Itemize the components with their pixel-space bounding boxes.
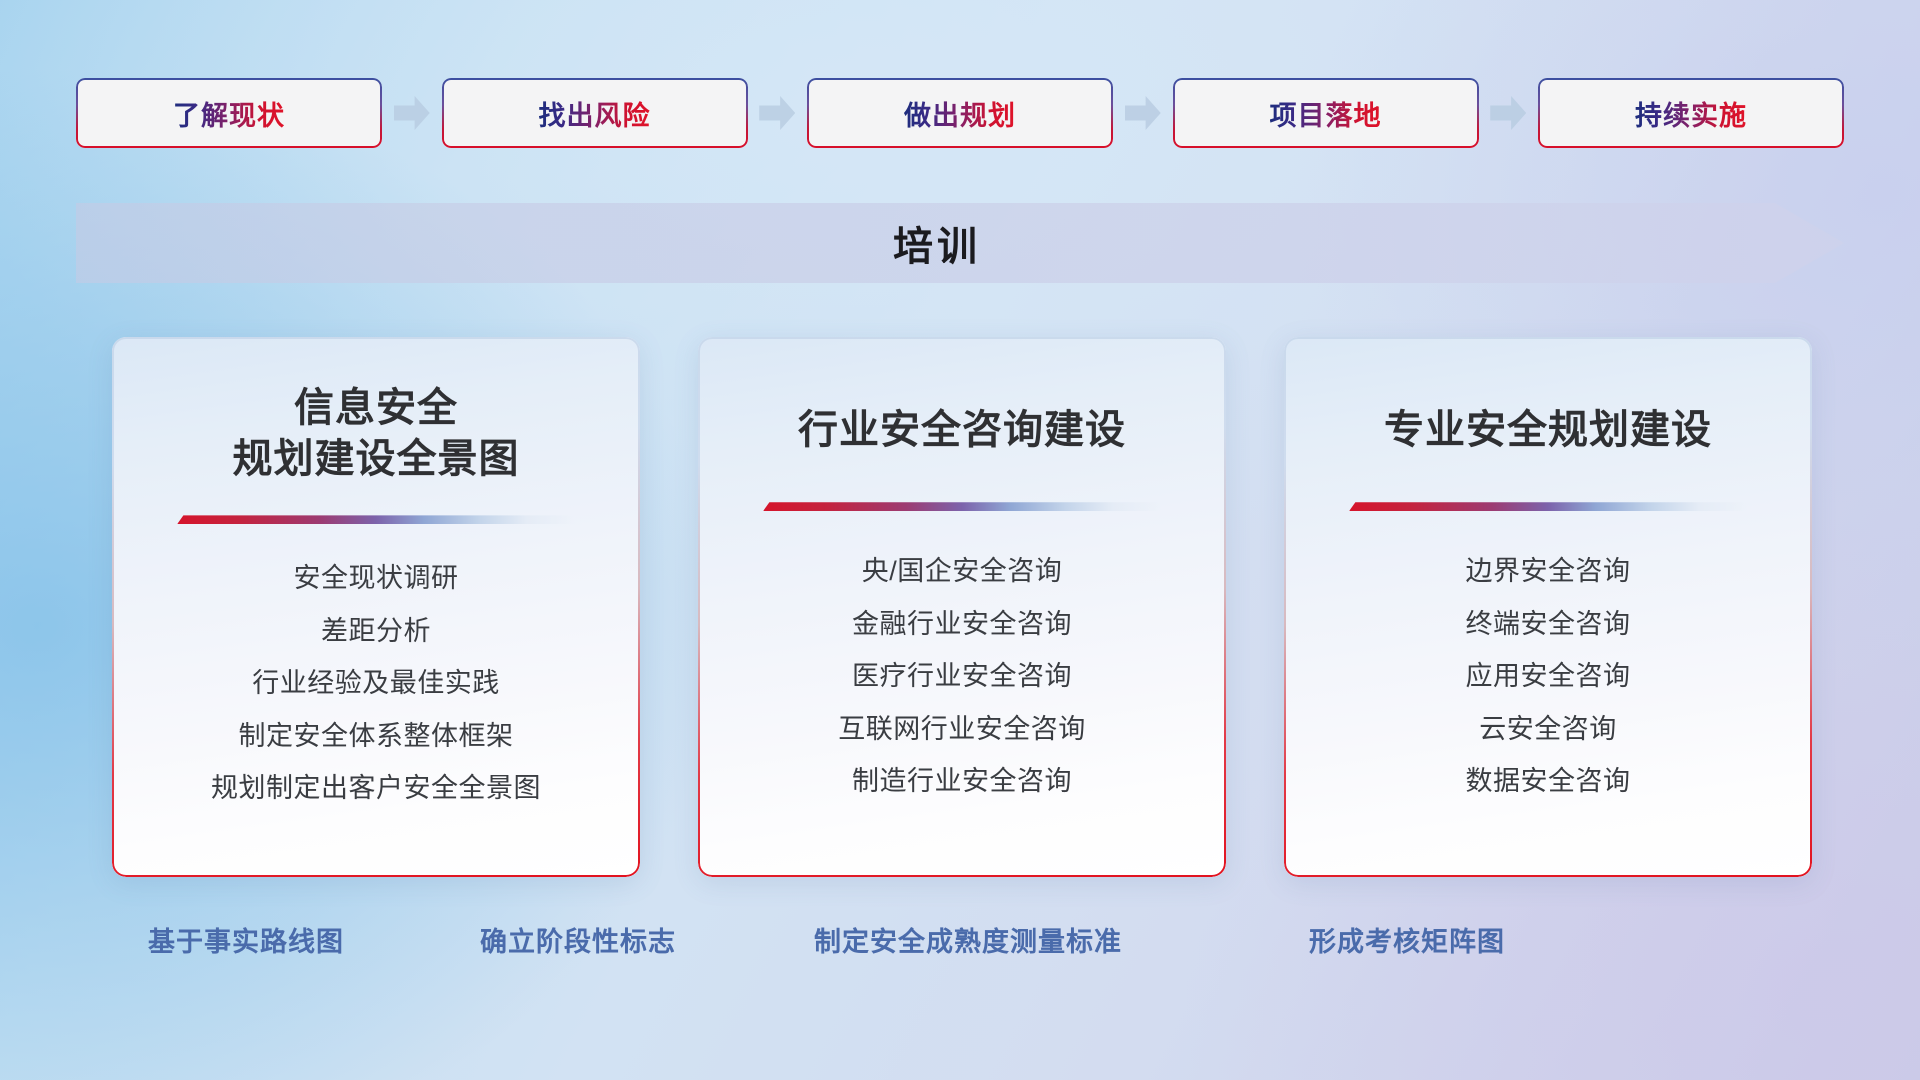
card-3[interactable]: 专业安全规划建设 边界安全咨询 终端安全咨询 应用安全咨询 云安全咨询 数据安全… [1284,337,1812,877]
list-item: 边界安全咨询 [1466,551,1631,592]
card-3-title-line-1: 专业安全规划建设 [1384,405,1712,456]
footer-label-1: 基于事实路线图 [148,920,344,959]
list-item: 终端安全咨询 [1466,604,1631,645]
process-steps-row: 了解现状 找出风险 做出规划 项目落地 持续实施 [76,78,1844,148]
list-item: 制造行业安全咨询 [852,761,1072,802]
card-2-list: 央/国企安全咨询 金融行业安全咨询 医疗行业安全咨询 互联网行业安全咨询 制造行… [728,551,1196,802]
list-item: 差距分析 [321,611,431,652]
footer-label-4: 形成考核矩阵图 [1309,920,1505,959]
card-1-title: 信息安全 规划建设全景图 [233,383,520,485]
list-item: 规划制定出客户安全全景图 [211,768,541,809]
card-3-divider [1349,502,1747,511]
list-item: 金融行业安全咨询 [852,604,1072,645]
card-1-title-line-1: 信息安全 [233,383,520,434]
card-1-title-line-2: 规划建设全景图 [233,434,520,485]
list-item: 数据安全咨询 [1466,761,1631,802]
banner-title: 培训 [76,203,1844,283]
list-item: 行业经验及最佳实践 [252,663,500,704]
step-label-4: 项目落地 [1270,94,1382,133]
cards-row: 信息安全 规划建设全景图 安全现状调研 差距分析 行业经验及最佳实践 制定安全体… [112,337,1812,877]
step-label-5: 持续实施 [1635,94,1747,133]
list-item: 制定安全体系整体框架 [239,716,514,757]
step-label-1: 了解现状 [173,94,285,133]
list-item: 医疗行业安全咨询 [852,656,1072,697]
list-item: 央/国企安全咨询 [862,551,1063,592]
footer-label-2: 确立阶段性标志 [480,920,676,959]
card-2-title-line-1: 行业安全咨询建设 [798,405,1126,456]
card-1-list: 安全现状调研 差距分析 行业经验及最佳实践 制定安全体系整体框架 规划制定出客户… [142,558,610,809]
card-1[interactable]: 信息安全 规划建设全景图 安全现状调研 差距分析 行业经验及最佳实践 制定安全体… [112,337,640,877]
arrow-right-icon-1 [394,96,430,130]
card-2-divider [763,502,1161,511]
arrow-right-icon-2 [759,96,795,130]
card-3-title: 专业安全规划建设 [1384,383,1712,456]
card-1-divider [177,515,575,524]
card-3-list: 边界安全咨询 终端安全咨询 应用安全咨询 云安全咨询 数据安全咨询 [1314,551,1782,802]
step-box-4[interactable]: 项目落地 [1173,78,1479,148]
step-box-2[interactable]: 找出风险 [442,78,748,148]
footer-labels-row: 基于事实路线图 确立阶段性标志 制定安全成熟度测量标准 形成考核矩阵图 [0,920,1920,976]
card-2-title: 行业安全咨询建设 [798,383,1126,456]
arrow-right-icon-4 [1490,96,1526,130]
footer-label-3: 制定安全成熟度测量标准 [814,920,1122,959]
step-label-3: 做出规划 [904,94,1016,133]
step-box-1[interactable]: 了解现状 [76,78,382,148]
list-item: 安全现状调研 [294,558,459,599]
training-banner: 培训 [76,203,1844,283]
step-box-5[interactable]: 持续实施 [1538,78,1844,148]
step-label-2: 找出风险 [539,94,651,133]
list-item: 云安全咨询 [1479,709,1617,750]
list-item: 互联网行业安全咨询 [838,709,1086,750]
list-item: 应用安全咨询 [1466,656,1631,697]
card-2[interactable]: 行业安全咨询建设 央/国企安全咨询 金融行业安全咨询 医疗行业安全咨询 互联网行… [698,337,1226,877]
arrow-right-icon-3 [1125,96,1161,130]
step-box-3[interactable]: 做出规划 [807,78,1113,148]
